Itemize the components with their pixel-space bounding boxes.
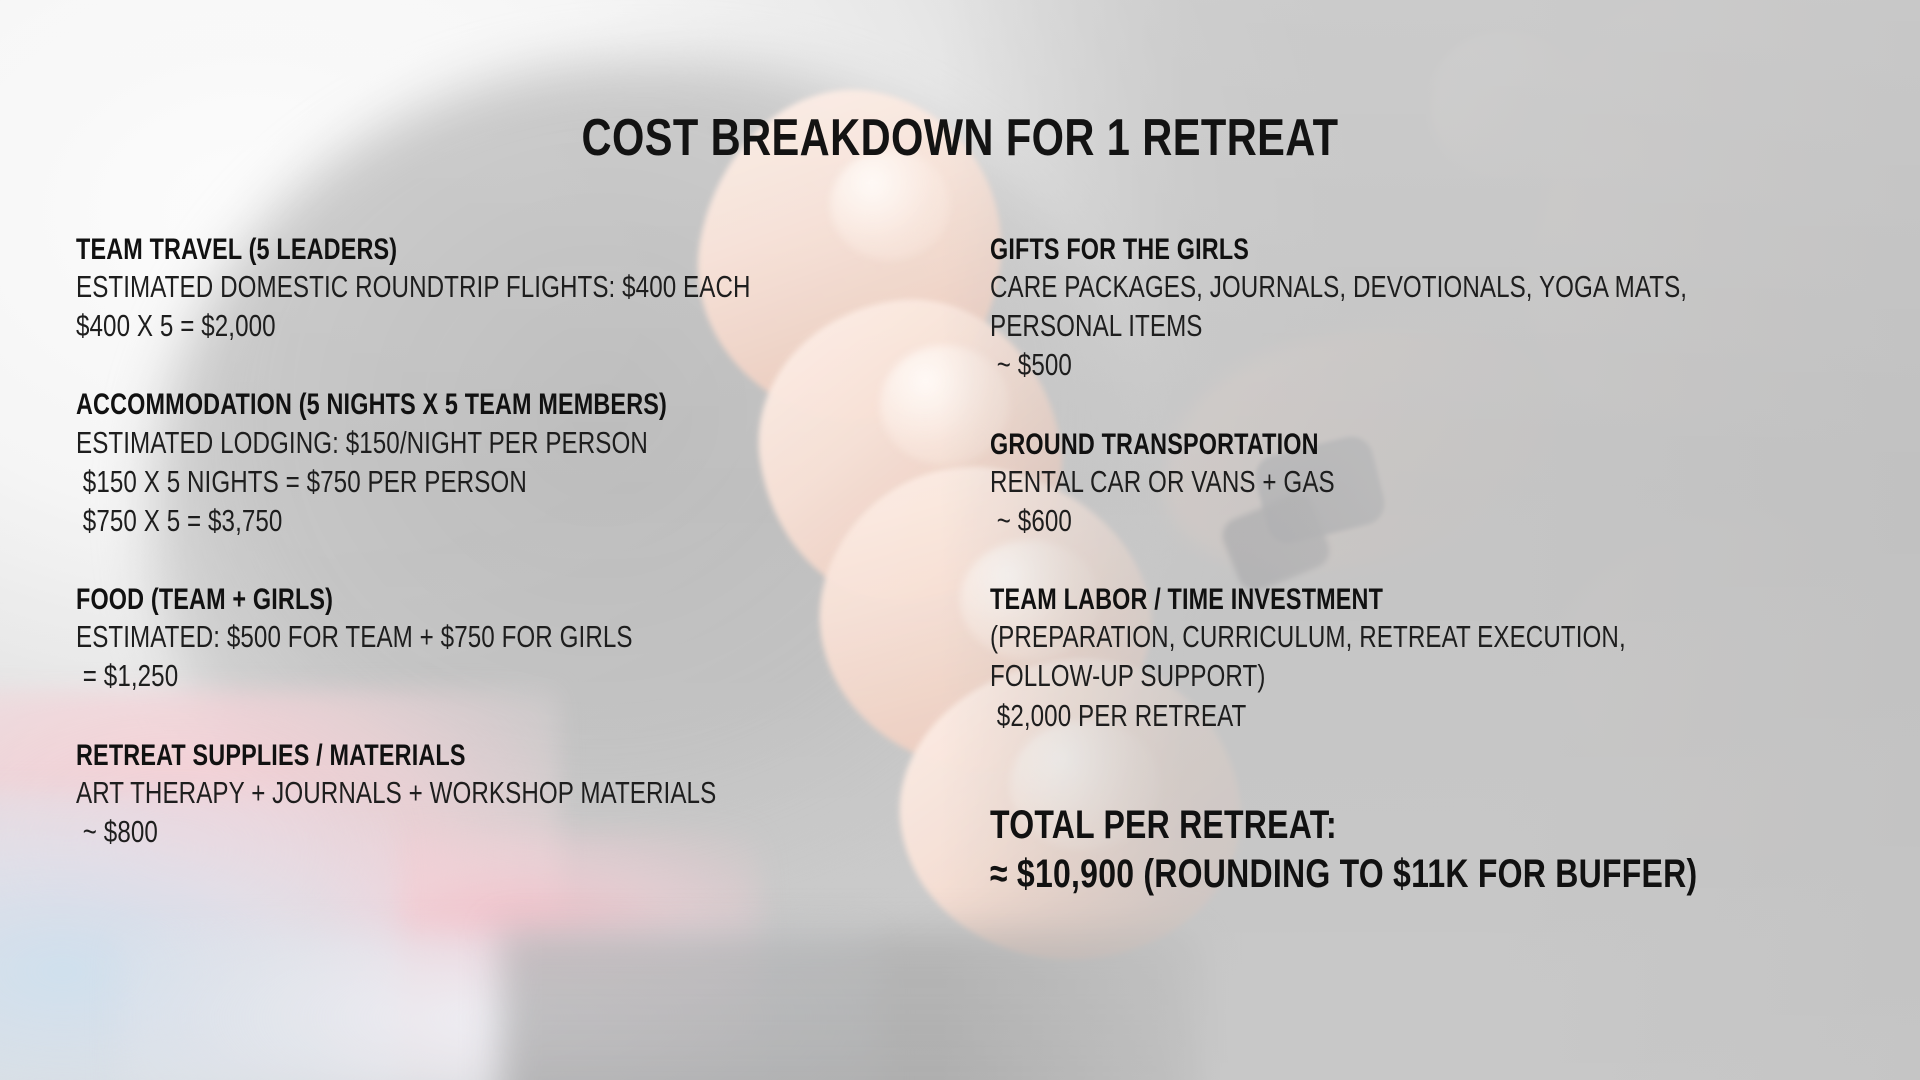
cost-block-line: ~ $600 [990,501,1715,540]
cost-block-heading: RETREAT SUPPLIES / MATERIALS [76,738,801,773]
cost-block-line: $2,000 PER RETREAT [990,696,1715,735]
cost-block-heading: TEAM TRAVEL (5 LEADERS) [76,232,801,267]
cost-block-line: (PREPARATION, CURRICULUM, RETREAT EXECUT… [990,617,1715,656]
cost-block-line: ~ $500 [990,345,1715,384]
cost-block-line: FOLLOW-UP SUPPORT) [990,656,1715,695]
cost-block-line: RENTAL CAR OR VANS + GAS [990,462,1715,501]
cost-block-line: $750 X 5 = $3,750 [76,501,801,540]
cost-block-line: ~ $800 [76,812,801,851]
poster-content: COST BREAKDOWN FOR 1 RETREAT TEAM TRAVEL… [0,0,1920,1080]
cost-block-line: ESTIMATED LODGING: $150/NIGHT PER PERSON [76,423,801,462]
cost-block-line: ESTIMATED: $500 FOR TEAM + $750 FOR GIRL… [76,617,801,656]
cost-block-heading: ACCOMMODATION (5 NIGHTS X 5 TEAM MEMBERS… [76,387,801,422]
cost-block-accommodation: ACCOMMODATION (5 NIGHTS X 5 TEAM MEMBERS… [76,387,1006,540]
cost-block-line: = $1,250 [76,656,801,695]
cost-block-heading: GROUND TRANSPORTATION [990,427,1715,462]
cost-block-gifts: GIFTS FOR THE GIRLS CARE PACKAGES, JOURN… [990,232,1920,385]
page-title: COST BREAKDOWN FOR 1 RETREAT [192,112,1728,164]
cost-block-line: CARE PACKAGES, JOURNALS, DEVOTIONALS, YO… [990,267,1715,306]
right-column: GIFTS FOR THE GIRLS CARE PACKAGES, JOURN… [990,232,1920,900]
cost-block-team-labor: TEAM LABOR / TIME INVESTMENT (PREPARATIO… [990,582,1920,735]
total-amount: ≈ $10,900 (ROUNDING TO $11K FOR BUFFER) [990,850,1734,900]
cost-block-food: FOOD (TEAM + GIRLS) ESTIMATED: $500 FOR … [76,582,1006,695]
cost-block-heading: GIFTS FOR THE GIRLS [990,232,1715,267]
cost-block-line: ART THERAPY + JOURNALS + WORKSHOP MATERI… [76,773,801,812]
cost-block-ground-transportation: GROUND TRANSPORTATION RENTAL CAR OR VANS… [990,427,1920,540]
total-label: TOTAL PER RETREAT: [990,801,1734,851]
cost-block-heading: TEAM LABOR / TIME INVESTMENT [990,582,1715,617]
cost-block-line: ESTIMATED DOMESTIC ROUNDTRIP FLIGHTS: $4… [76,267,801,306]
poster-canvas: COST BREAKDOWN FOR 1 RETREAT TEAM TRAVEL… [0,0,1920,1080]
cost-block-retreat-supplies: RETREAT SUPPLIES / MATERIALS ART THERAPY… [76,738,1006,851]
cost-block-line: $400 X 5 = $2,000 [76,306,801,345]
cost-block-team-travel: TEAM TRAVEL (5 LEADERS) ESTIMATED DOMEST… [76,232,1006,345]
cost-block-line: $150 X 5 NIGHTS = $750 PER PERSON [76,462,801,501]
cost-block-heading: FOOD (TEAM + GIRLS) [76,582,801,617]
total-block: TOTAL PER RETREAT: ≈ $10,900 (ROUNDING T… [990,801,1920,900]
cost-block-line: PERSONAL ITEMS [990,306,1715,345]
left-column: TEAM TRAVEL (5 LEADERS) ESTIMATED DOMEST… [76,232,1006,851]
